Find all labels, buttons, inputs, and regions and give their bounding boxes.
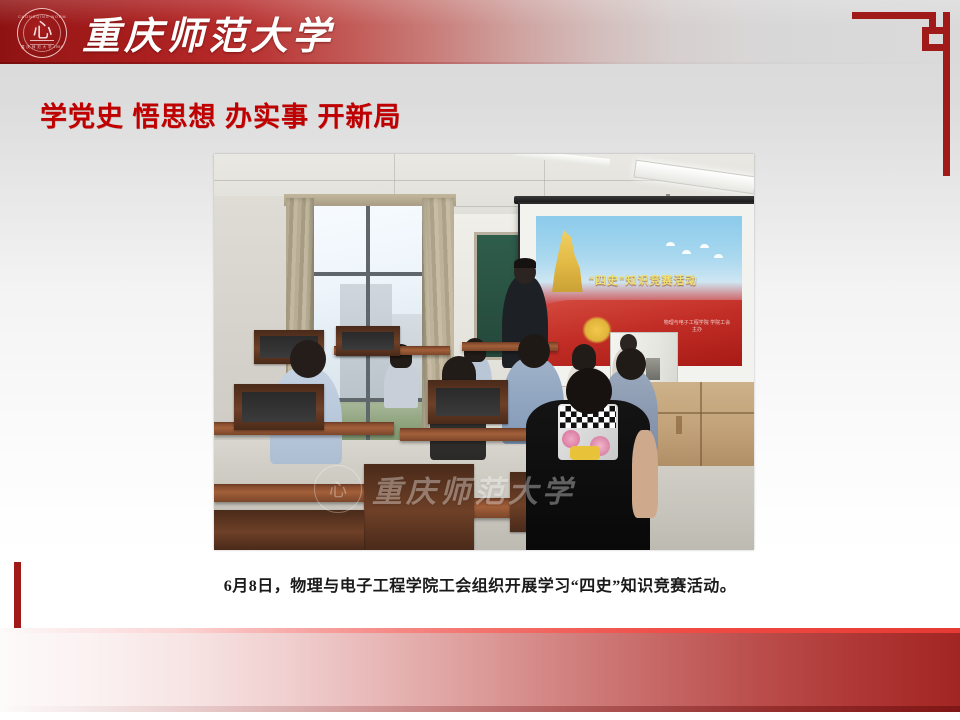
seal-ring-text-bottom: 重 庆 师 范 大 学 1954 bbox=[18, 45, 66, 50]
university-name-calligraphy: 重庆师范大学 bbox=[82, 4, 334, 60]
cabinet-panel bbox=[646, 358, 660, 380]
chair-back bbox=[436, 388, 500, 416]
student-head bbox=[616, 348, 646, 380]
university-seal-icon: CHONGQING NORMAL UNIVERSITY 心 重 庆 师 范 大 … bbox=[17, 8, 67, 58]
box-seam bbox=[700, 382, 702, 466]
seal-center-glyph: 心 bbox=[18, 20, 66, 40]
box-handle bbox=[676, 416, 682, 434]
window-mullion bbox=[310, 272, 432, 276]
photo-caption: 6月8日，物理与电子工程学院工会组织开展学习“四史”知识竞赛活动。 bbox=[0, 572, 960, 596]
photo-watermark: 心 重庆师范大学 bbox=[314, 454, 674, 524]
student-head bbox=[572, 344, 596, 370]
watermark-seal-icon: 心 bbox=[314, 465, 362, 513]
activity-photo: “四史”知识竞赛活动 物理与电子工程学院 学院工会主办 bbox=[214, 154, 754, 550]
dove-icon bbox=[682, 250, 691, 254]
presentation-slide: CHONGQING NORMAL UNIVERSITY 心 重 庆 师 范 大 … bbox=[0, 0, 960, 720]
footer-band-highlight bbox=[0, 628, 960, 633]
page-title: 学党史 悟思想 办实事 开新局 bbox=[40, 95, 402, 134]
dove-icon bbox=[714, 254, 723, 258]
student-head bbox=[290, 340, 326, 378]
projected-slide-title: “四史”知识竞赛活动 bbox=[554, 272, 732, 288]
watermark-text: 重庆师范大学 bbox=[372, 467, 576, 511]
chair-back bbox=[242, 392, 316, 422]
corner-ornament-top-right-icon bbox=[840, 12, 960, 176]
banner-divider bbox=[0, 62, 960, 64]
footer-band bbox=[0, 628, 960, 712]
activity-photo-content: “四史”知识竞赛活动 物理与电子工程学院 学院工会主办 bbox=[214, 154, 754, 550]
party-emblem-icon bbox=[582, 316, 612, 344]
chair-back bbox=[342, 332, 394, 350]
student-head bbox=[518, 334, 550, 368]
dove-icon bbox=[700, 244, 709, 248]
presenter-hair bbox=[514, 258, 536, 268]
footer-white-strip bbox=[0, 712, 960, 720]
foreground-student-head bbox=[566, 368, 612, 414]
dove-icon bbox=[666, 242, 675, 246]
header-banner: CHONGQING NORMAL UNIVERSITY 心 重 庆 师 范 大 … bbox=[0, 0, 960, 64]
